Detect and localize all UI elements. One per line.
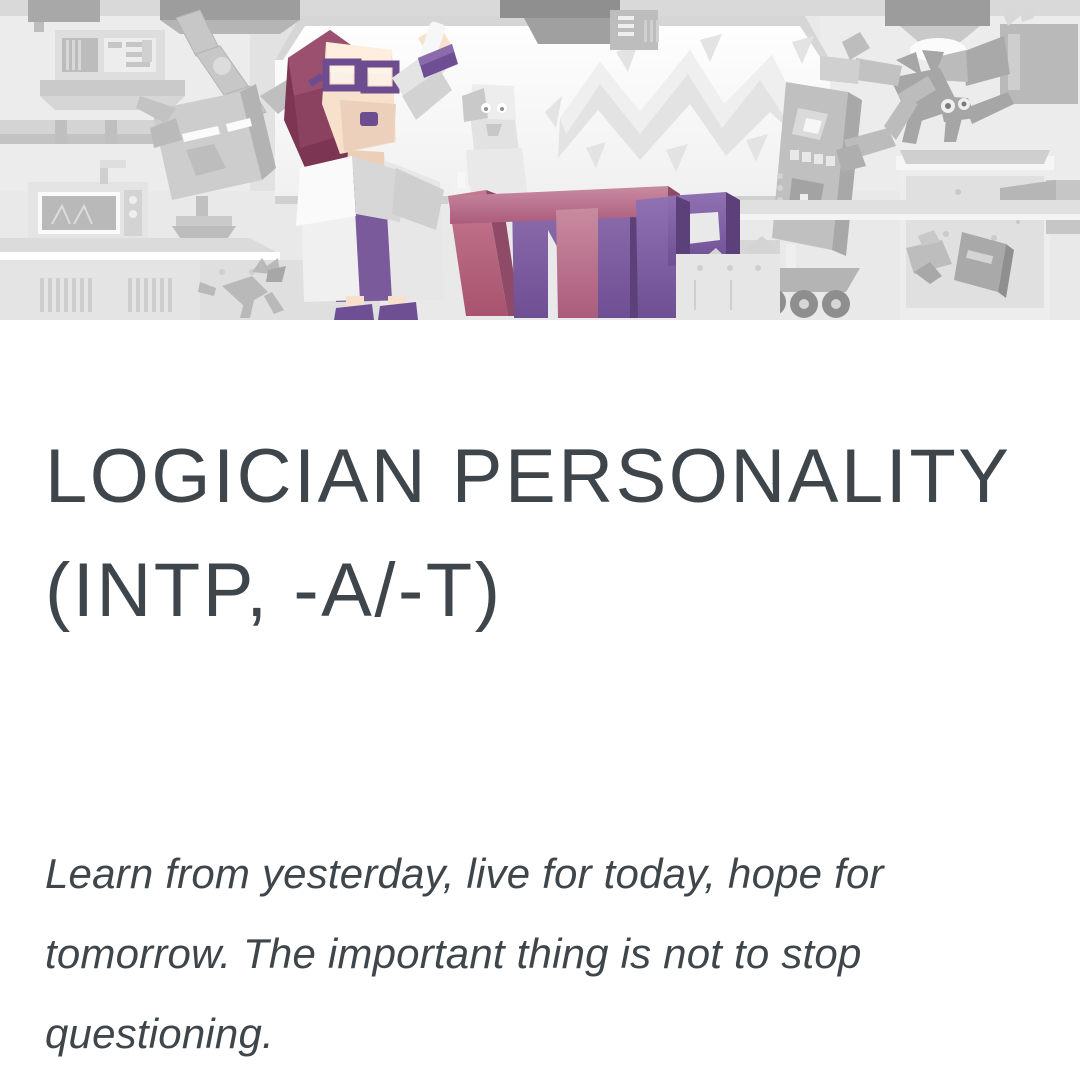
personality-quote: Learn from yesterday, live for today, ho… <box>45 834 985 1074</box>
hero-illustration <box>0 0 1080 320</box>
hero-svg <box>0 0 1080 320</box>
content-area: Logician Personality (INTP, -A/-T) Learn… <box>0 320 1080 1080</box>
page-root: Logician Personality (INTP, -A/-T) Learn… <box>0 0 1080 1080</box>
page-title: Logician Personality (INTP, -A/-T) <box>45 420 1035 648</box>
